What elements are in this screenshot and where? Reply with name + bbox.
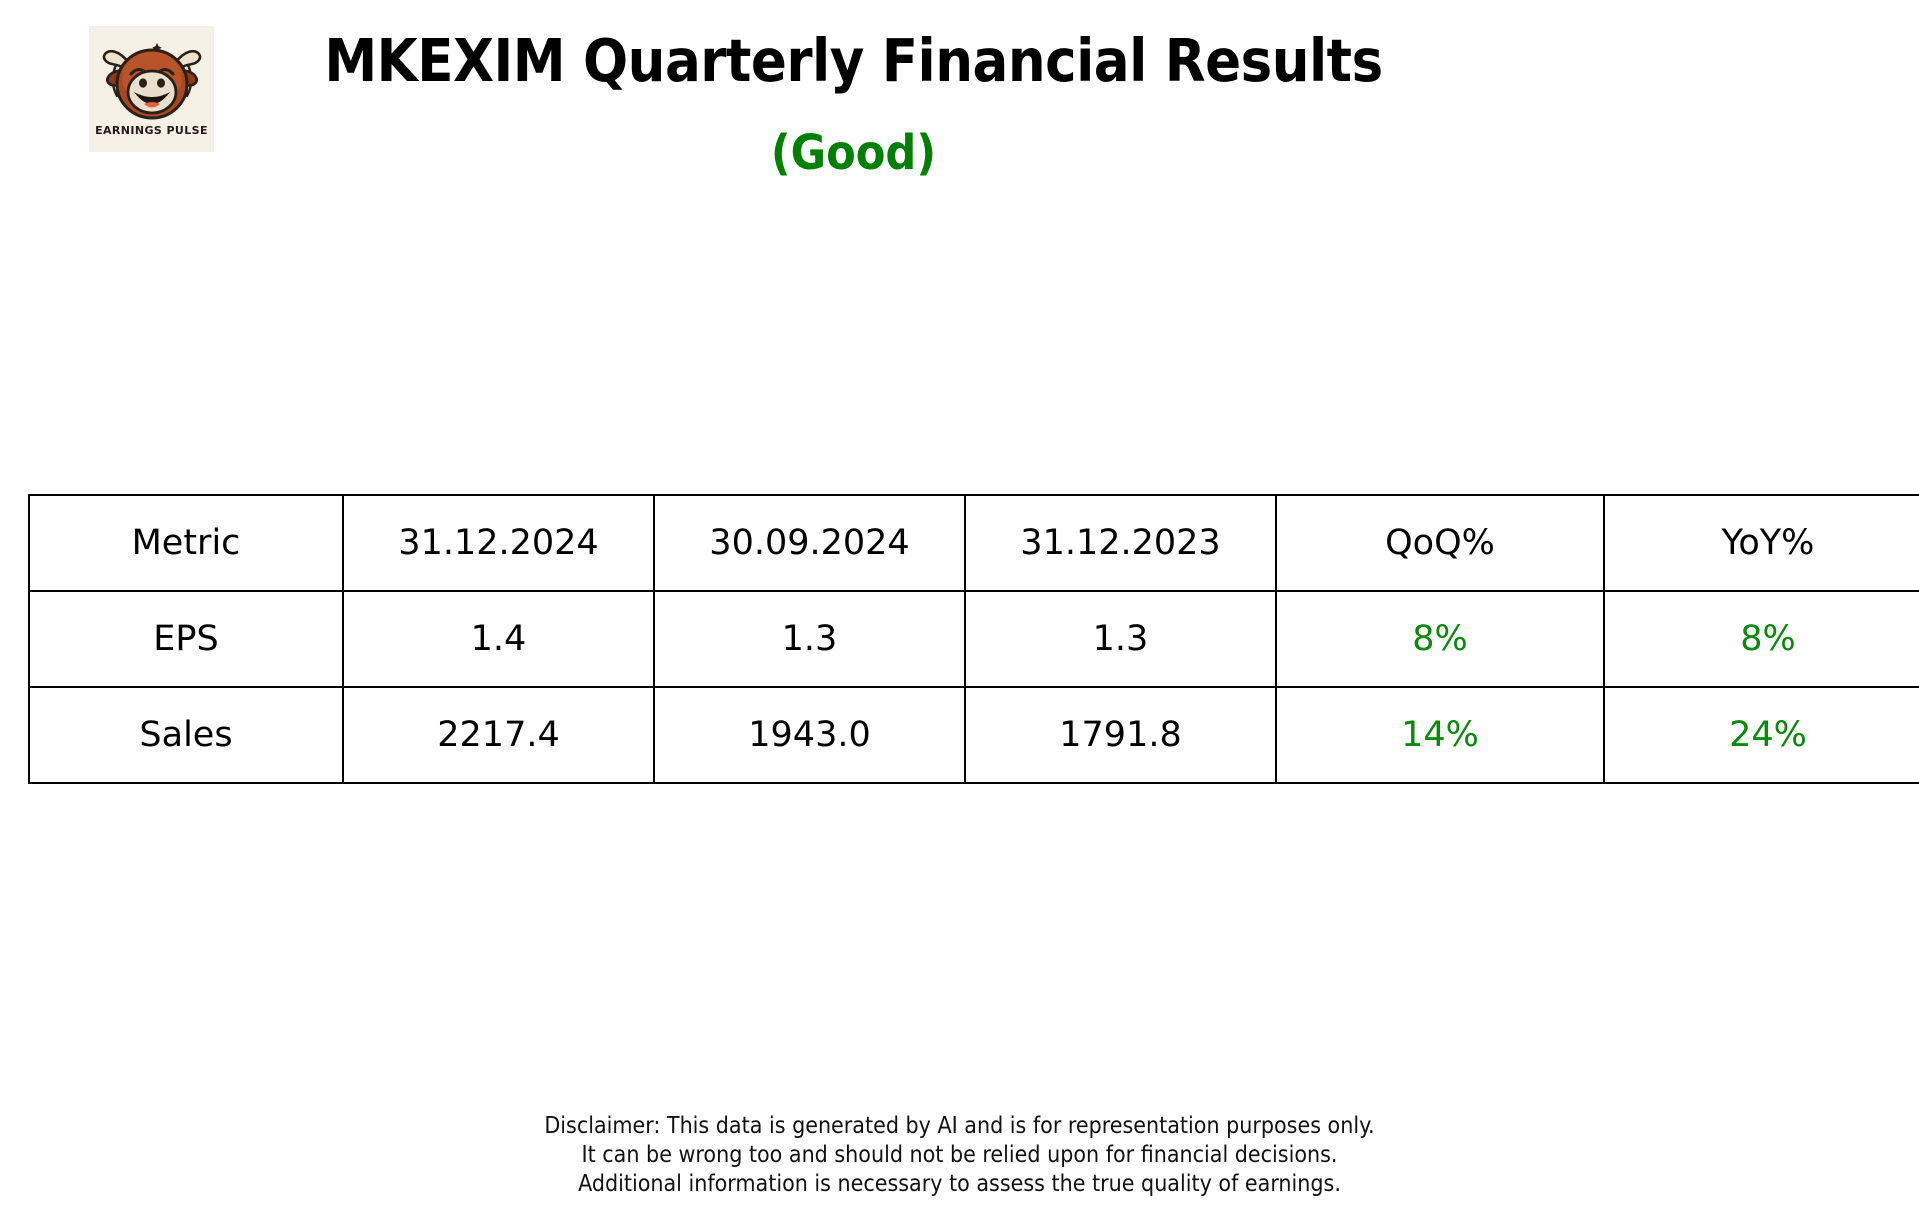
- table-header-row: Metric 31.12.2024 30.09.2024 31.12.2023 …: [29, 495, 1919, 591]
- column-header-period-1: 31.12.2024: [343, 495, 654, 591]
- column-header-period-2: 30.09.2024: [654, 495, 965, 591]
- cell-period-2: 1943.0: [654, 687, 965, 783]
- cell-yoy: 8%: [1604, 591, 1919, 687]
- column-header-yoy: YoY%: [1604, 495, 1919, 591]
- cell-period-1: 2217.4: [343, 687, 654, 783]
- cell-period-1: 1.4: [343, 591, 654, 687]
- cell-metric-name: EPS: [29, 591, 343, 687]
- cell-yoy: 24%: [1604, 687, 1919, 783]
- disclaimer-line-1: Disclaimer: This data is generated by AI…: [0, 1112, 1919, 1141]
- page-title: MKEXIM Quarterly Financial Results: [0, 26, 1707, 95]
- disclaimer: Disclaimer: This data is generated by AI…: [0, 1112, 1919, 1199]
- column-header-period-3: 31.12.2023: [965, 495, 1276, 591]
- quarterly-results-table: Metric 31.12.2024 30.09.2024 31.12.2023 …: [28, 494, 1919, 784]
- cell-qoq: 8%: [1276, 591, 1604, 687]
- column-header-metric: Metric: [29, 495, 343, 591]
- cell-period-2: 1.3: [654, 591, 965, 687]
- verdict-badge: (Good): [0, 125, 1707, 181]
- disclaimer-line-3: Additional information is necessary to a…: [0, 1170, 1919, 1199]
- column-header-qoq: QoQ%: [1276, 495, 1604, 591]
- cell-metric-name: Sales: [29, 687, 343, 783]
- cell-period-3: 1.3: [965, 591, 1276, 687]
- table-row: EPS 1.4 1.3 1.3 8% 8%: [29, 591, 1919, 687]
- cell-qoq: 14%: [1276, 687, 1604, 783]
- disclaimer-line-2: It can be wrong too and should not be re…: [0, 1141, 1919, 1170]
- cell-period-3: 1791.8: [965, 687, 1276, 783]
- table-row: Sales 2217.4 1943.0 1791.8 14% 24%: [29, 687, 1919, 783]
